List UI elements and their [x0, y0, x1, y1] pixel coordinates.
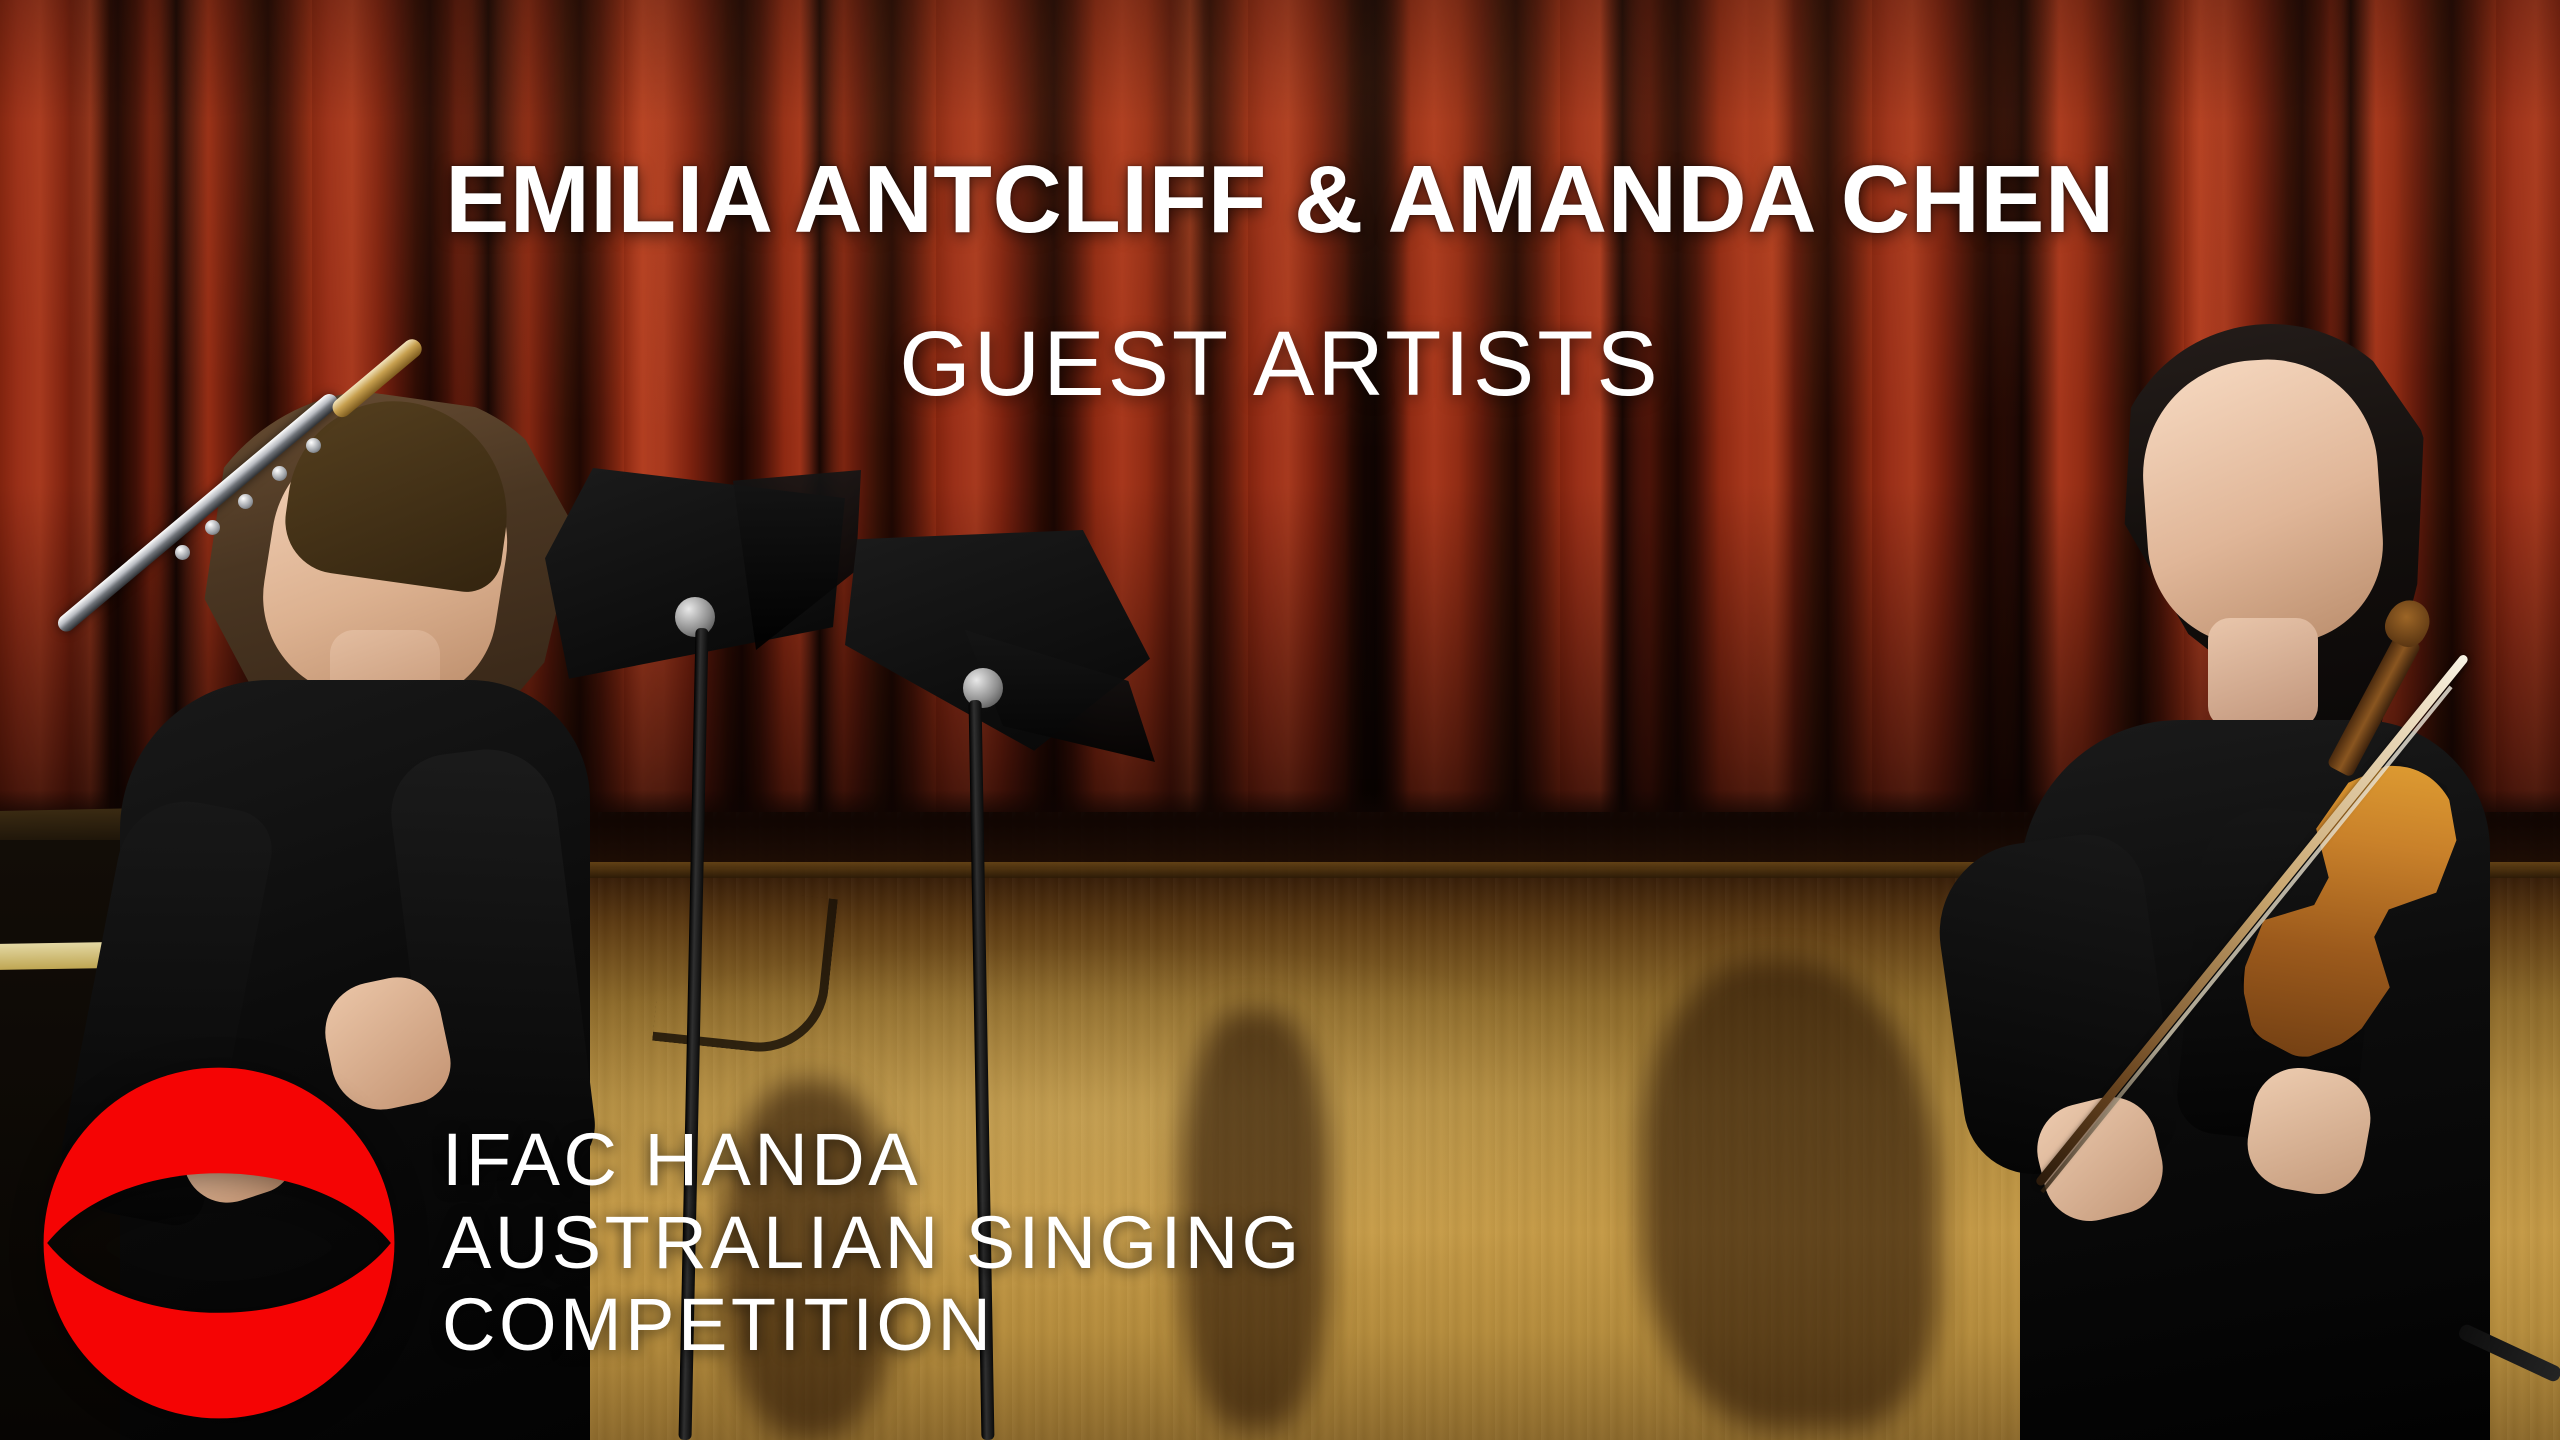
organisation-name: IFAC HANDA AUSTRALIAN SINGING COMPETITIO… [442, 1119, 1303, 1368]
page-title: EMILIA ANTCLIFF & AMANDA CHEN [0, 152, 2560, 248]
brand-lockup: IFAC HANDA AUSTRALIAN SINGING COMPETITIO… [40, 1064, 1303, 1422]
flute-key [205, 520, 220, 535]
ifac-eye-logo-icon [40, 1064, 398, 1422]
performer-violinist [1890, 300, 2560, 1440]
flute-key [175, 545, 190, 560]
flute-key [306, 438, 321, 453]
flute-key [272, 466, 287, 481]
org-line-3: COMPETITION [442, 1284, 1303, 1367]
flute-key [238, 494, 253, 509]
video-thumbnail-frame: EMILIA ANTCLIFF & AMANDA CHEN GUEST ARTI… [0, 0, 2560, 1440]
org-line-1: IFAC HANDA [442, 1119, 1303, 1202]
subtitle: GUEST ARTISTS [0, 318, 2560, 410]
org-line-2: AUSTRALIAN SINGING [442, 1202, 1303, 1285]
violinist-neck [2208, 618, 2318, 728]
